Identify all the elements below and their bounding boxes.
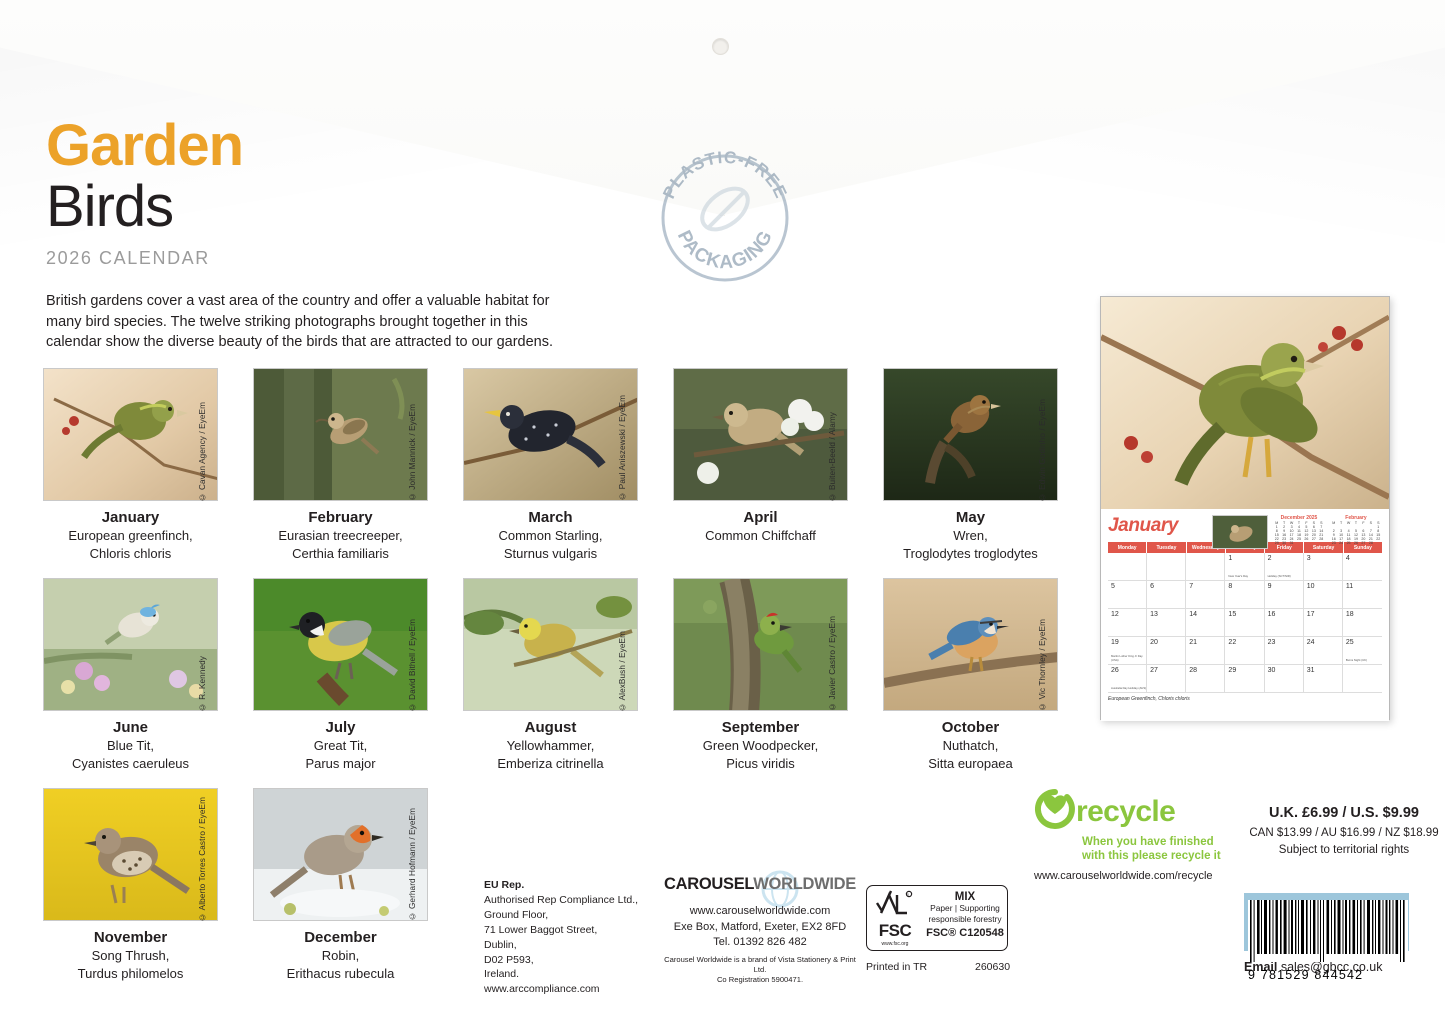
- day-cell: 10: [1304, 581, 1343, 609]
- preview-mini-calendars: December 2025 MTWTFSS 1234567 8910111213…: [1212, 515, 1382, 549]
- species-common-name: Robin,: [250, 948, 431, 964]
- preview-mini-next-grid: MTWTFSS 1 2345678 9101112131415 16171819…: [1330, 521, 1382, 545]
- species-common-name: European greenfinch,: [40, 528, 221, 544]
- month-cell[interactable]: © Javier Castro / EyeEm September Green …: [670, 578, 880, 773]
- month-cell[interactable]: © R. Kennedy June Blue Tit, Cyanistes ca…: [40, 578, 250, 773]
- day-cell: 30: [1265, 665, 1304, 693]
- month-caption: November Song Thrush, Turdus philomelos: [40, 929, 221, 983]
- day-cell: 13: [1147, 609, 1186, 637]
- photo-credit: © Edwin Godinho / EyeEm: [1038, 399, 1047, 501]
- printed-in-label: Printed in TR: [866, 961, 927, 973]
- month-cell[interactable]: © Buiten-Beeld / Alamy April Common Chif…: [670, 368, 880, 563]
- species-common-name: Song Thrush,: [40, 948, 221, 964]
- carousel-logo-dark: CAROUSEL: [664, 875, 753, 893]
- eu-rep-line: Authorised Rep Compliance Ltd.,: [484, 893, 654, 908]
- species-common-name: Eurasian treecreeper,: [250, 528, 431, 544]
- photo-credit: © David Bithell / EyeEm: [408, 619, 417, 711]
- month-row-3: © Alberto Torres Castro / EyeEm November…: [40, 788, 460, 983]
- fsc-url: www.fsc.org: [882, 941, 909, 947]
- preview-mini-next: February MTWTFSS 1 2345678 9101112131415…: [1330, 515, 1382, 549]
- fsc-mark: R FSC www.fsc.org: [867, 886, 923, 950]
- eu-rep-line: 71 Lower Baggot Street,: [484, 923, 654, 938]
- plastic-free-packaging-icon: PLASTIC-FREE PACKAGING: [650, 143, 800, 293]
- day-number: 25: [1346, 639, 1354, 646]
- recycle-icon: [1034, 788, 1076, 835]
- fsc-tree-icon: R: [875, 889, 915, 922]
- preview-day-cells: 1New Year's Day 2Holiday (SCT/NIR) 3 4 5…: [1108, 553, 1382, 693]
- day-cell: 22: [1225, 637, 1264, 665]
- day-cell: 17: [1304, 609, 1343, 637]
- day-cell: 15: [1225, 609, 1264, 637]
- day-note: New Year's Day: [1228, 575, 1248, 578]
- species-latin-name: Emberiza citrinella: [460, 756, 641, 772]
- species-latin-name: Cyanistes caeruleus: [40, 756, 221, 772]
- month-caption: April Common Chiffchaff: [670, 509, 851, 544]
- carousel-logo-light: WORLDWIDE: [753, 875, 856, 893]
- day-number: 19: [1111, 639, 1119, 646]
- month-row-1: © Cavan Agency / EyeEm January European …: [40, 368, 1090, 563]
- month-caption: October Nuthatch, Sitta europaea: [880, 719, 1061, 773]
- month-cell[interactable]: © Cavan Agency / EyeEm January European …: [40, 368, 250, 563]
- month-label: January: [40, 509, 221, 526]
- barcode-number: 9 781529 844542: [1248, 968, 1408, 982]
- day-cell: 11: [1343, 581, 1382, 609]
- month-label: September: [670, 719, 851, 736]
- photo-credit: © Gerhard Hofmann / EyeEm: [408, 808, 417, 921]
- photo-credit: © R. Kennedy: [198, 656, 207, 711]
- day-cell: 19Martin Luther King Jr Day (USA): [1108, 637, 1147, 665]
- day-number: 26: [1111, 667, 1119, 674]
- month-cell[interactable]: © Edwin Godinho / EyeEm May Wren, Troglo…: [880, 368, 1090, 563]
- eu-rep-heading: EU Rep.: [484, 879, 524, 891]
- species-common-name: Common Chiffchaff: [670, 528, 851, 544]
- carousel-address: Exe Box, Matford, Exeter, EX2 8FD: [660, 920, 860, 936]
- photo-credit: © Alberto Torres Castro / EyeEm: [198, 797, 207, 921]
- species-common-name: Wren,: [880, 528, 1061, 544]
- month-label: November: [40, 929, 221, 946]
- month-photo: [883, 578, 1058, 711]
- eu-rep-line: Dublin,: [484, 938, 654, 953]
- fsc-mix-label: MIX: [923, 891, 1007, 903]
- day-cell: 7: [1186, 581, 1225, 609]
- price-block: U.K. £6.99 / U.S. $9.99 CAN $13.99 / AU …: [1244, 805, 1444, 858]
- month-photo: [43, 788, 218, 921]
- weekday-tuesday: Tuesday: [1147, 542, 1185, 553]
- month-photo: [43, 578, 218, 711]
- species-latin-name: Sturnus vulgaris: [460, 546, 641, 562]
- month-photo: [463, 578, 638, 711]
- month-caption: March Common Starling, Sturnus vulgaris: [460, 509, 641, 563]
- photo-credit: © John Mannick / EyeEm: [408, 404, 417, 501]
- month-caption: February Eurasian treecreeper, Certhia f…: [250, 509, 431, 563]
- species-latin-name: Turdus philomelos: [40, 966, 221, 982]
- month-label: March: [460, 509, 641, 526]
- month-cell[interactable]: © Alberto Torres Castro / EyeEm November…: [40, 788, 250, 983]
- recycle-tagline: When you have finished with this please …: [1082, 836, 1224, 864]
- calendar-preview[interactable]: January December 2025 MTWTFSS 1234567 89…: [1100, 296, 1390, 720]
- month-caption: January European greenfinch, Chloris chl…: [40, 509, 221, 563]
- month-cell[interactable]: © Vic Thornley / EyeEm October Nuthatch,…: [880, 578, 1090, 773]
- day-cell: 24: [1304, 637, 1343, 665]
- recycle-label: recycle: [1076, 795, 1175, 829]
- month-label: April: [670, 509, 851, 526]
- description-text: British gardens cover a vast area of the…: [46, 291, 556, 353]
- price-secondary: CAN $13.99 / AU $16.99 / NZ $18.99: [1244, 825, 1444, 842]
- month-cell[interactable]: © John Mannick / EyeEm February Eurasian…: [250, 368, 460, 563]
- month-label: June: [40, 719, 221, 736]
- job-number: 260630: [975, 961, 1010, 973]
- species-common-name: Nuthatch,: [880, 738, 1061, 754]
- month-label: August: [460, 719, 641, 736]
- carousel-legal-2: Co Registration 5900471.: [660, 975, 860, 985]
- barcode-bars: [1248, 900, 1408, 962]
- month-label: May: [880, 509, 1061, 526]
- day-cell: 1New Year's Day: [1225, 553, 1264, 581]
- day-number: 2: [1268, 555, 1272, 562]
- carousel-worldwide-block: CAROUSELWORLDWIDE www.carouselworldwide.…: [660, 875, 860, 986]
- preview-photo: [1101, 297, 1389, 509]
- species-common-name: Common Starling,: [460, 528, 641, 544]
- day-cell: [1186, 553, 1225, 581]
- species-latin-name: Certhia familiaris: [250, 546, 431, 562]
- day-note: Martin Luther King Jr Day (USA): [1111, 655, 1146, 662]
- day-cell: 29: [1225, 665, 1264, 693]
- day-cell: 31: [1304, 665, 1343, 693]
- svg-text:R: R: [906, 892, 909, 897]
- day-note: Holiday (SCT/NIR): [1268, 575, 1291, 578]
- month-cell[interactable]: © Gerhard Hofmann / EyeEm December Robin…: [250, 788, 460, 983]
- day-cell: 8: [1225, 581, 1264, 609]
- day-cell: 9: [1265, 581, 1304, 609]
- day-cell: 5: [1108, 581, 1147, 609]
- day-cell: [1108, 553, 1147, 581]
- fsc-code: FSC® C120548: [923, 927, 1007, 939]
- day-cell: [1343, 665, 1382, 693]
- fsc-certification-badge: R FSC www.fsc.org MIX Paper | Supporting…: [866, 885, 1008, 951]
- carousel-logo: CAROUSELWORLDWIDE: [664, 875, 856, 894]
- species-common-name: Yellowhammer,: [460, 738, 641, 754]
- day-note: Burns Night (UK): [1346, 659, 1367, 662]
- photo-credit: © Paul Aniszewski / EyeEm: [618, 395, 627, 501]
- day-cell: 21: [1186, 637, 1225, 665]
- preview-mini-prev: December 2025 MTWTFSS 1234567 8910111213…: [1273, 515, 1325, 549]
- day-cell: 4: [1343, 553, 1382, 581]
- species-latin-name: Chloris chloris: [40, 546, 221, 562]
- page-header: Garden Birds 2026 CALENDAR British garde…: [46, 118, 606, 353]
- day-cell: 20: [1147, 637, 1186, 665]
- carousel-legal-1: Carousel Worldwide is a brand of Vista S…: [660, 955, 860, 976]
- photo-credit: © Cavan Agency / EyeEm: [198, 402, 207, 502]
- barcode-block: 9 781529 844542: [1248, 900, 1408, 982]
- day-cell: 28: [1186, 665, 1225, 693]
- page-title-secondary: Birds: [46, 177, 606, 236]
- photo-credit: © Buiten-Beeld / Alamy: [828, 412, 837, 501]
- fsc-desc-line-1: Paper | Supporting: [923, 904, 1007, 914]
- photo-credit: © Vic Thornley / EyeEm: [1038, 619, 1047, 711]
- month-photo: [253, 788, 428, 921]
- preview-mini-photo: [1212, 515, 1268, 549]
- day-cell: 2Holiday (SCT/NIR): [1265, 553, 1304, 581]
- day-cell: [1147, 553, 1186, 581]
- preview-calendar-grid: January December 2025 MTWTFSS 1234567 89…: [1101, 509, 1389, 721]
- day-cell: 14: [1186, 609, 1225, 637]
- month-label: February: [250, 509, 431, 526]
- photo-credit: © AlexBush / EyeEm: [618, 631, 627, 711]
- month-photo: [43, 368, 218, 501]
- price-rights: Subject to territorial rights: [1244, 842, 1444, 859]
- month-label: December: [250, 929, 431, 946]
- species-common-name: Great Tit,: [250, 738, 431, 754]
- month-photo: [253, 578, 428, 711]
- month-caption: September Green Woodpecker, Picus viridi…: [670, 719, 851, 773]
- species-latin-name: Parus major: [250, 756, 431, 772]
- day-cell: 12: [1108, 609, 1147, 637]
- month-photo: [673, 578, 848, 711]
- month-photo: [673, 368, 848, 501]
- day-cell: 18: [1343, 609, 1382, 637]
- month-cell[interactable]: © Paul Aniszewski / EyeEm March Common S…: [460, 368, 670, 563]
- eu-rep-line: Ground Floor,: [484, 908, 654, 923]
- fsc-desc-line-2: responsible forestry: [923, 915, 1007, 925]
- month-row-2: © R. Kennedy June Blue Tit, Cyanistes ca…: [40, 578, 1090, 773]
- day-cell: 6: [1147, 581, 1186, 609]
- species-latin-name: Sitta europaea: [880, 756, 1061, 772]
- photo-credit: © Javier Castro / EyeEm: [828, 616, 837, 711]
- price-main: U.K. £6.99 / U.S. $9.99: [1244, 805, 1444, 821]
- month-label: July: [250, 719, 431, 736]
- species-common-name: Green Woodpecker,: [670, 738, 851, 754]
- carousel-tel: Tel. 01392 826 482: [660, 935, 860, 951]
- species-latin-name: Erithacus rubecula: [250, 966, 431, 982]
- day-note: Australia Day Holiday (AUS): [1111, 687, 1146, 690]
- species-latin-name: Picus viridis: [670, 756, 851, 772]
- eu-rep-url[interactable]: www.arccompliance.com: [484, 982, 654, 997]
- month-photo: [253, 368, 428, 501]
- carousel-website[interactable]: www.carouselworldwide.com: [660, 904, 860, 920]
- eu-rep-line: Ireland.: [484, 967, 654, 982]
- month-label: October: [880, 719, 1061, 736]
- month-caption: June Blue Tit, Cyanistes caeruleus: [40, 719, 221, 773]
- preview-mini-prev-grid: MTWTFSS 1234567 891011121314 15161718192…: [1273, 521, 1325, 545]
- eu-rep-line: D02 P593,: [484, 953, 654, 968]
- month-caption: December Robin, Erithacus rubecula: [250, 929, 431, 983]
- page-subtitle: 2026 CALENDAR: [46, 248, 606, 269]
- species-latin-name: Troglodytes troglodytes: [880, 546, 1061, 562]
- eu-rep-block: EU Rep. Authorised Rep Compliance Ltd., …: [484, 878, 654, 997]
- month-photo: [883, 368, 1058, 501]
- weekday-monday: Monday: [1108, 542, 1146, 553]
- month-caption: July Great Tit, Parus major: [250, 719, 431, 773]
- month-caption: May Wren, Troglodytes troglodytes: [880, 509, 1061, 563]
- month-cell[interactable]: © AlexBush / EyeEm August Yellowhammer, …: [460, 578, 670, 773]
- fsc-label: FSC: [879, 921, 912, 941]
- month-caption: August Yellowhammer, Emberiza citrinella: [460, 719, 641, 773]
- day-cell: 23: [1265, 637, 1304, 665]
- fsc-details: MIX Paper | Supporting responsible fores…: [923, 886, 1007, 950]
- day-cell: 25Burns Night (UK): [1343, 637, 1382, 665]
- day-number: 1: [1228, 555, 1232, 562]
- month-cell[interactable]: © David Bithell / EyeEm July Great Tit, …: [250, 578, 460, 773]
- day-cell: 16: [1265, 609, 1304, 637]
- day-cell: 27: [1147, 665, 1186, 693]
- page-title-primary: Garden: [46, 118, 606, 175]
- day-cell: 3: [1304, 553, 1343, 581]
- species-common-name: Blue Tit,: [40, 738, 221, 754]
- month-photo: [463, 368, 638, 501]
- preview-footer-caption: European Greenfinch, Chloris chloris: [1108, 696, 1382, 702]
- day-cell: 26Australia Day Holiday (AUS): [1108, 665, 1147, 693]
- recycle-url[interactable]: www.carouselworldwide.com/recycle: [1034, 870, 1224, 882]
- recycle-block: recycle When you have finished with this…: [1034, 788, 1224, 882]
- hanging-hole: [712, 38, 729, 55]
